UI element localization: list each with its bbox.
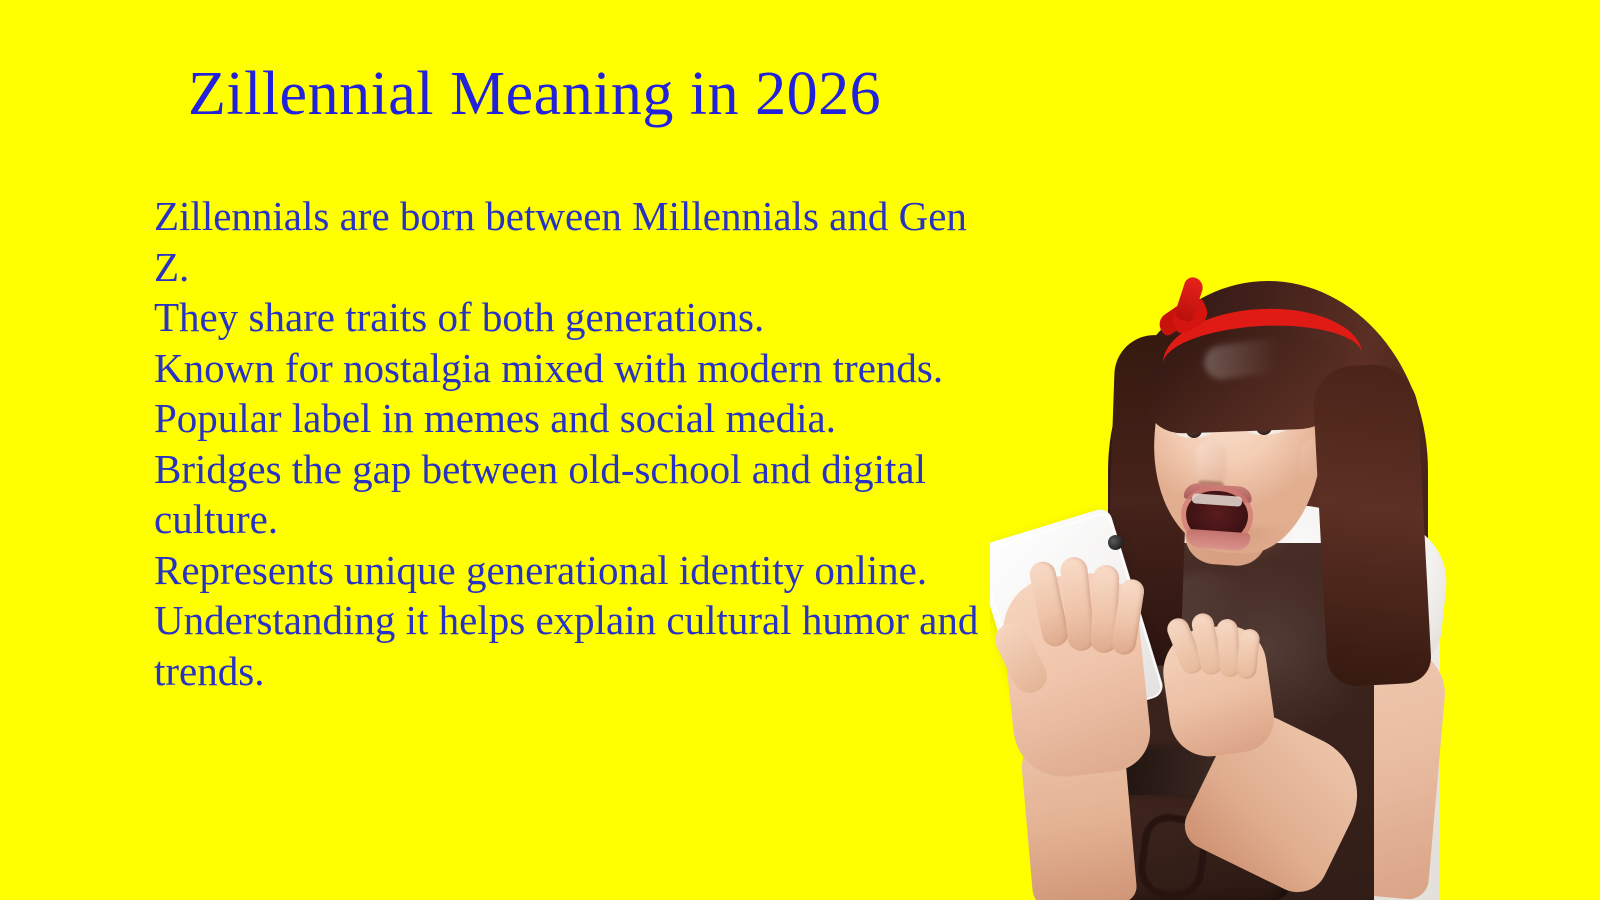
body-line: Zillennials are born between Millennials… (154, 191, 1006, 292)
shocked-woman-with-phone-photo (990, 275, 1460, 900)
body-line: Known for nostalgia mixed with modern tr… (154, 343, 1006, 394)
body-line: Bridges the gap between old-school and d… (154, 444, 1006, 545)
body-line: They share traits of both generations. (154, 292, 1006, 343)
slide-canvas: Zillennial Meaning in 2026 Zillennials a… (0, 0, 1600, 900)
body-line: Understanding it helps explain cultural … (154, 595, 1006, 696)
page-title: Zillennial Meaning in 2026 (188, 57, 1088, 131)
body-line: Popular label in memes and social media. (154, 393, 1006, 444)
hair-strand-right (1312, 362, 1433, 687)
body-line: Represents unique generational identity … (154, 545, 1006, 596)
body-text-block: Zillennials are born between Millennials… (154, 191, 1006, 696)
